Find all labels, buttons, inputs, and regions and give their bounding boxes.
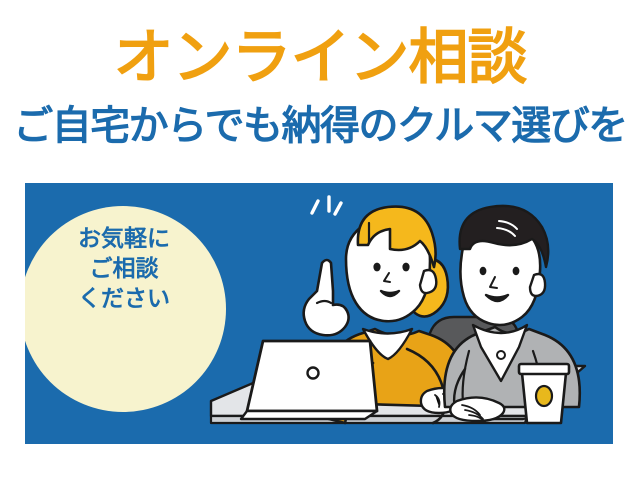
page-subtitle: ご自宅からでも納得のクルマ選びを (0, 106, 640, 146)
laptop (241, 341, 377, 419)
coffee-cup-logo-icon (536, 386, 552, 406)
man-eye-left (480, 267, 487, 275)
man-shirt-button (497, 351, 505, 359)
badge-circle (25, 206, 226, 412)
illustration-svg (25, 183, 613, 444)
woman-eye-left (373, 263, 380, 272)
banner-header: オンライン相談 ご自宅からでも納得のクルマ選びを (0, 0, 640, 168)
banner-root: オンライン相談 ご自宅からでも納得のクルマ選びを (0, 0, 640, 480)
man-eye-right (513, 267, 520, 275)
woman-eye-right (402, 263, 409, 272)
woman-ear (420, 270, 436, 293)
laptop-base (241, 411, 377, 419)
page-title: オンライン相談 (0, 28, 640, 88)
laptop-logo-icon (308, 368, 319, 379)
coffee-cup-lid (519, 364, 569, 374)
illustration-panel: お気軽に ご相談 ください (25, 183, 613, 444)
man-ear (530, 274, 545, 296)
coffee-cup (519, 364, 569, 423)
